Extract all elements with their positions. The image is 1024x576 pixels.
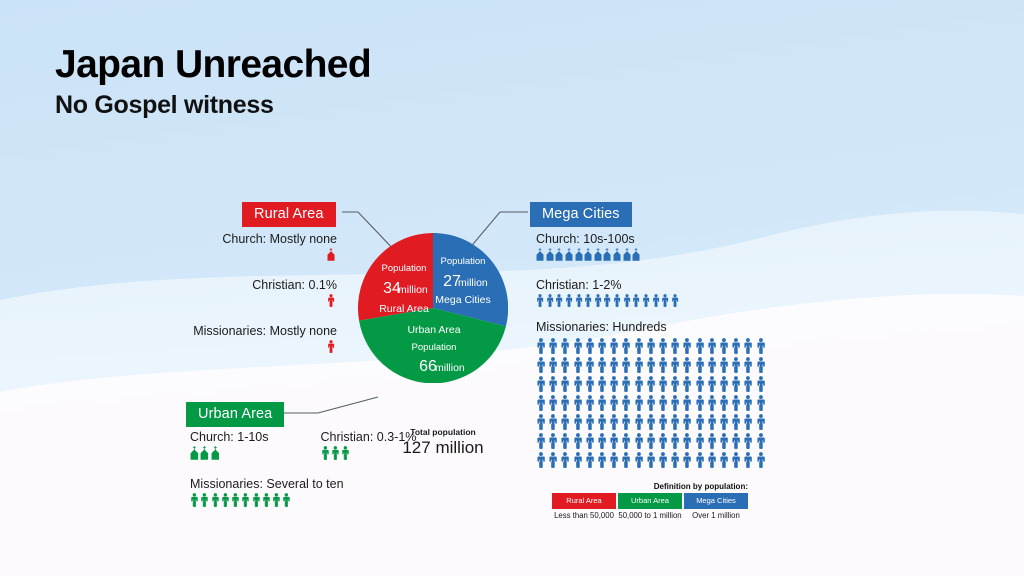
person-icon-wrap — [670, 452, 680, 468]
person-icon — [731, 395, 741, 411]
person-icon-wrap — [743, 433, 753, 449]
person-icon-wrap — [670, 338, 680, 354]
person-icon — [200, 493, 209, 507]
person-icon — [327, 340, 335, 353]
urban-christian-label: Christian: 0.3-1% — [321, 430, 417, 444]
person-icon-wrap — [573, 433, 583, 449]
panel-urban-area: Church: 1-10s Christian: 0.3-1% Missiona… — [190, 430, 510, 507]
person-icon-wrap — [658, 376, 668, 392]
person-icon — [634, 414, 644, 430]
person-icon-wrap — [695, 395, 705, 411]
person-icon-wrap — [536, 376, 546, 392]
church-person-icon — [603, 248, 611, 261]
person-icon-wrap — [536, 338, 546, 354]
page-subtitle: No Gospel witness — [55, 91, 371, 120]
chip-rural-area[interactable]: Rural Area — [242, 202, 336, 227]
person-icon — [695, 395, 705, 411]
person-icon — [573, 395, 583, 411]
person-icon — [695, 433, 705, 449]
person-icon — [695, 376, 705, 392]
person-icon-wrap — [707, 376, 717, 392]
person-icon-wrap — [536, 357, 546, 373]
person-icon-wrap — [252, 493, 261, 507]
person-icon — [548, 357, 558, 373]
person-icon-wrap — [190, 493, 199, 507]
person-icon — [658, 376, 668, 392]
person-icon-wrap — [756, 414, 766, 430]
church-person-icon-wrap — [575, 248, 583, 261]
chip-mega-cities[interactable]: Mega Cities — [530, 202, 632, 227]
church-person-icon — [623, 248, 631, 261]
person-icon — [646, 376, 656, 392]
person-icon — [560, 395, 570, 411]
person-icon — [670, 338, 680, 354]
church-person-icon-wrap — [190, 446, 199, 460]
pie-label-urban-poplabel: Population — [412, 342, 457, 353]
church-person-icon-wrap — [200, 446, 209, 460]
person-icon-wrap — [634, 452, 644, 468]
church-person-icon-wrap — [211, 446, 220, 460]
person-icon-wrap — [671, 294, 679, 307]
person-icon-wrap — [646, 357, 656, 373]
person-icon — [634, 376, 644, 392]
person-icon — [731, 338, 741, 354]
person-icon-wrap — [231, 493, 240, 507]
person-icon-wrap — [536, 414, 546, 430]
person-icon — [548, 414, 558, 430]
person-icon-wrap — [661, 294, 669, 307]
chip-urban-area[interactable]: Urban Area — [186, 402, 284, 427]
person-icon-wrap — [584, 294, 592, 307]
person-icon-wrap — [597, 433, 607, 449]
person-icon-wrap — [560, 338, 570, 354]
legend-item: Urban Area50,000 to 1 million — [618, 493, 682, 520]
mega-missionaries-grid — [536, 338, 796, 471]
person-icon-wrap — [707, 452, 717, 468]
person-icon-wrap — [560, 376, 570, 392]
person-icon — [743, 414, 753, 430]
person-icon-wrap — [560, 357, 570, 373]
person-icon — [597, 395, 607, 411]
person-icon — [272, 493, 281, 507]
person-icon-wrap — [211, 493, 220, 507]
rural-church-icons — [122, 248, 337, 261]
person-icon — [221, 493, 230, 507]
person-icon-wrap — [634, 395, 644, 411]
person-icon — [584, 294, 592, 307]
person-icon-wrap — [719, 357, 729, 373]
person-icon-wrap — [597, 338, 607, 354]
person-icon — [646, 452, 656, 468]
church-person-icon-wrap — [546, 248, 554, 261]
person-icon-wrap — [573, 338, 583, 354]
urban-church-label: Church: 1-10s — [190, 430, 269, 444]
person-icon-wrap — [707, 357, 717, 373]
person-icon — [658, 414, 668, 430]
person-icon — [536, 376, 546, 392]
person-icon — [621, 433, 631, 449]
person-icon — [609, 357, 619, 373]
person-icon — [560, 414, 570, 430]
person-icon-wrap — [536, 395, 546, 411]
person-icon-wrap — [731, 395, 741, 411]
person-icon-wrap — [575, 294, 583, 307]
person-icon — [621, 414, 631, 430]
person-icon — [756, 395, 766, 411]
person-icon-wrap — [670, 376, 680, 392]
mega-christian-label: Christian: 1-2% — [536, 278, 796, 292]
person-icon-wrap — [695, 414, 705, 430]
person-icon-wrap — [731, 376, 741, 392]
person-icon-wrap — [719, 433, 729, 449]
person-icon — [743, 433, 753, 449]
person-icon — [756, 376, 766, 392]
person-icon — [548, 452, 558, 468]
person-icon — [560, 376, 570, 392]
person-icon-wrap — [597, 452, 607, 468]
person-icon-wrap — [658, 452, 668, 468]
church-person-icon — [536, 248, 544, 261]
person-icon — [671, 294, 679, 307]
pie-label-mega-unit: million — [458, 277, 488, 289]
legend-item: Mega CitiesOver 1 million — [684, 493, 748, 520]
pie-label-urban-unit: million — [435, 362, 465, 374]
person-icon — [719, 433, 729, 449]
person-icon-wrap — [756, 452, 766, 468]
legend-title: Definition by population: — [552, 482, 750, 491]
person-icon-wrap — [634, 414, 644, 430]
person-icon — [707, 338, 717, 354]
person-icon — [646, 414, 656, 430]
person-icon-wrap — [731, 433, 741, 449]
person-icon — [670, 414, 680, 430]
person-icon-wrap — [658, 395, 668, 411]
person-icon-wrap — [632, 294, 640, 307]
church-person-icon-wrap — [613, 248, 621, 261]
mega-church-label: Church: 10s-100s — [536, 232, 796, 246]
church-person-icon-wrap — [623, 248, 631, 261]
person-icon-wrap — [555, 294, 563, 307]
person-icon-wrap — [585, 433, 595, 449]
rural-missionaries-icons — [122, 340, 337, 353]
person-icon — [536, 433, 546, 449]
mega-missionaries-row — [536, 433, 796, 452]
person-icon — [719, 376, 729, 392]
person-icon-wrap — [573, 376, 583, 392]
person-icon — [536, 294, 544, 307]
person-icon-wrap — [272, 493, 281, 507]
person-icon — [634, 338, 644, 354]
person-icon-wrap — [695, 452, 705, 468]
person-icon — [731, 376, 741, 392]
person-icon-wrap — [621, 357, 631, 373]
person-icon-wrap — [573, 395, 583, 411]
person-icon — [573, 414, 583, 430]
person-icon-wrap — [548, 414, 558, 430]
person-icon — [719, 452, 729, 468]
person-icon-wrap — [695, 433, 705, 449]
person-icon — [682, 338, 692, 354]
person-icon — [548, 338, 558, 354]
rural-church-label: Church: Mostly none — [122, 232, 337, 246]
person-icon — [573, 376, 583, 392]
person-icon-wrap — [331, 446, 340, 460]
person-icon-wrap — [756, 433, 766, 449]
urban-christian-icons — [321, 446, 417, 460]
person-icon — [719, 338, 729, 354]
person-icon — [548, 433, 558, 449]
person-icon-wrap — [282, 493, 291, 507]
legend-item: Rural AreaLess than 50,000 — [552, 493, 616, 520]
legend-swatch: Urban Area — [618, 493, 682, 509]
person-icon-wrap — [327, 340, 335, 353]
mega-missionaries-row — [536, 414, 796, 433]
person-icon — [597, 357, 607, 373]
person-icon — [646, 357, 656, 373]
person-icon — [573, 338, 583, 354]
person-icon-wrap — [670, 414, 680, 430]
person-icon — [646, 433, 656, 449]
person-icon-wrap — [573, 452, 583, 468]
person-icon-wrap — [585, 414, 595, 430]
person-icon-wrap — [597, 357, 607, 373]
person-icon-wrap — [634, 376, 644, 392]
person-icon-wrap — [536, 294, 544, 307]
person-icon-wrap — [646, 338, 656, 354]
person-icon-wrap — [560, 414, 570, 430]
person-icon-wrap — [682, 452, 692, 468]
person-icon — [682, 395, 692, 411]
person-icon — [756, 452, 766, 468]
person-icon-wrap — [621, 395, 631, 411]
person-icon — [695, 357, 705, 373]
person-icon-wrap — [682, 338, 692, 354]
person-icon-wrap — [536, 452, 546, 468]
person-icon-wrap — [634, 433, 644, 449]
person-icon — [609, 395, 619, 411]
person-icon — [585, 452, 595, 468]
person-icon — [634, 395, 644, 411]
person-icon-wrap — [731, 452, 741, 468]
person-icon — [621, 376, 631, 392]
person-icon — [585, 395, 595, 411]
person-icon-wrap — [634, 357, 644, 373]
person-icon — [241, 493, 250, 507]
person-icon — [646, 395, 656, 411]
person-icon — [536, 338, 546, 354]
person-icon-wrap — [585, 452, 595, 468]
person-icon-wrap — [646, 376, 656, 392]
person-icon-wrap — [573, 357, 583, 373]
person-icon-wrap — [743, 414, 753, 430]
title-block: Japan Unreached No Gospel witness — [55, 45, 371, 120]
person-icon-wrap — [560, 395, 570, 411]
person-icon-wrap — [548, 357, 558, 373]
church-person-icon — [575, 248, 583, 261]
person-icon — [756, 414, 766, 430]
person-icon — [211, 493, 220, 507]
church-person-icon — [613, 248, 621, 261]
person-icon — [682, 357, 692, 373]
mega-missionaries-row — [536, 357, 796, 376]
person-icon-wrap — [646, 414, 656, 430]
person-icon — [756, 433, 766, 449]
person-icon-wrap — [609, 452, 619, 468]
person-icon — [623, 294, 631, 307]
person-icon — [743, 452, 753, 468]
person-icon — [658, 433, 668, 449]
person-icon — [621, 452, 631, 468]
mega-missionaries-row — [536, 338, 796, 357]
person-icon — [719, 414, 729, 430]
person-icon — [585, 433, 595, 449]
person-icon — [634, 357, 644, 373]
person-icon-wrap — [756, 338, 766, 354]
person-icon — [575, 294, 583, 307]
church-person-icon — [200, 446, 209, 460]
church-person-icon — [211, 446, 220, 460]
person-icon — [341, 446, 350, 460]
person-icon — [707, 395, 717, 411]
person-icon-wrap — [594, 294, 602, 307]
panel-mega-cities: Church: 10s-100s Christian: 1-2% Mission… — [536, 232, 796, 471]
person-icon-wrap — [756, 395, 766, 411]
person-icon-wrap — [634, 338, 644, 354]
legend-caption: Less than 50,000 — [552, 511, 616, 520]
person-icon — [573, 452, 583, 468]
person-icon — [594, 294, 602, 307]
person-icon — [597, 376, 607, 392]
person-icon-wrap — [743, 395, 753, 411]
person-icon — [756, 357, 766, 373]
person-icon-wrap — [621, 414, 631, 430]
person-icon — [658, 452, 668, 468]
person-icon-wrap — [613, 294, 621, 307]
person-icon-wrap — [321, 446, 330, 460]
person-icon — [321, 446, 330, 460]
mega-missionaries-row — [536, 376, 796, 395]
person-icon-wrap — [682, 376, 692, 392]
person-icon-wrap — [658, 414, 668, 430]
person-icon-wrap — [719, 376, 729, 392]
person-icon-wrap — [707, 414, 717, 430]
person-icon — [731, 433, 741, 449]
person-icon-wrap — [719, 452, 729, 468]
person-icon — [560, 433, 570, 449]
person-icon-wrap — [548, 433, 558, 449]
person-icon-wrap — [670, 433, 680, 449]
legend-items: Rural AreaLess than 50,000Urban Area50,0… — [552, 493, 750, 520]
pie-label-mega-poplabel: Population — [441, 256, 486, 267]
person-icon — [707, 433, 717, 449]
person-icon-wrap — [560, 433, 570, 449]
person-icon — [670, 357, 680, 373]
person-icon — [597, 433, 607, 449]
person-icon — [719, 395, 729, 411]
person-icon-wrap — [670, 357, 680, 373]
person-icon — [682, 433, 692, 449]
person-icon — [536, 414, 546, 430]
person-icon — [621, 357, 631, 373]
person-icon — [682, 376, 692, 392]
person-icon — [670, 395, 680, 411]
person-icon — [585, 414, 595, 430]
person-icon-wrap — [560, 452, 570, 468]
person-icon — [565, 294, 573, 307]
person-icon-wrap — [743, 338, 753, 354]
legend-swatch: Mega Cities — [684, 493, 748, 509]
person-icon-wrap — [707, 433, 717, 449]
person-icon — [743, 338, 753, 354]
person-icon-wrap — [548, 452, 558, 468]
person-icon — [743, 357, 753, 373]
person-icon-wrap — [646, 452, 656, 468]
person-icon-wrap — [642, 294, 650, 307]
person-icon — [731, 452, 741, 468]
person-icon — [560, 452, 570, 468]
person-icon — [555, 294, 563, 307]
person-icon-wrap — [658, 338, 668, 354]
rural-christian-label: Christian: 0.1% — [122, 278, 337, 292]
person-icon — [695, 414, 705, 430]
church-person-icon-wrap — [565, 248, 573, 261]
person-icon — [282, 493, 291, 507]
person-icon — [695, 338, 705, 354]
person-icon-wrap — [731, 357, 741, 373]
legend-swatch: Rural Area — [552, 493, 616, 509]
church-person-icon-wrap — [536, 248, 544, 261]
person-icon — [670, 452, 680, 468]
person-icon — [661, 294, 669, 307]
person-icon-wrap — [682, 357, 692, 373]
person-icon-wrap — [548, 338, 558, 354]
person-icon-wrap — [682, 414, 692, 430]
person-icon — [642, 294, 650, 307]
person-icon — [573, 433, 583, 449]
person-icon-wrap — [609, 395, 619, 411]
person-icon-wrap — [621, 452, 631, 468]
person-icon-wrap — [609, 433, 619, 449]
person-icon — [658, 357, 668, 373]
person-icon-wrap — [646, 395, 656, 411]
person-icon — [634, 452, 644, 468]
person-icon — [743, 376, 753, 392]
pie-label-rural-name: Rural Area — [379, 303, 429, 315]
person-icon-wrap — [707, 395, 717, 411]
person-icon-wrap — [609, 357, 619, 373]
person-icon — [658, 395, 668, 411]
person-icon — [731, 357, 741, 373]
legend: Definition by population: Rural AreaLess… — [552, 482, 750, 520]
church-person-icon-wrap — [632, 248, 640, 261]
person-icon — [585, 338, 595, 354]
rural-missionaries-label: Missionaries: Mostly none — [122, 324, 337, 338]
person-icon-wrap — [603, 294, 611, 307]
person-icon-wrap — [719, 395, 729, 411]
person-icon — [707, 452, 717, 468]
person-icon — [609, 376, 619, 392]
person-icon-wrap — [719, 338, 729, 354]
person-icon — [634, 433, 644, 449]
person-icon-wrap — [200, 493, 209, 507]
person-icon — [331, 446, 340, 460]
urban-missionaries-icons — [190, 493, 510, 507]
person-icon-wrap — [546, 294, 554, 307]
person-icon-wrap — [241, 493, 250, 507]
mega-missionaries-label: Missionaries: Hundreds — [536, 320, 796, 334]
pie-label-rural-unit: million — [398, 284, 428, 296]
person-icon — [695, 452, 705, 468]
